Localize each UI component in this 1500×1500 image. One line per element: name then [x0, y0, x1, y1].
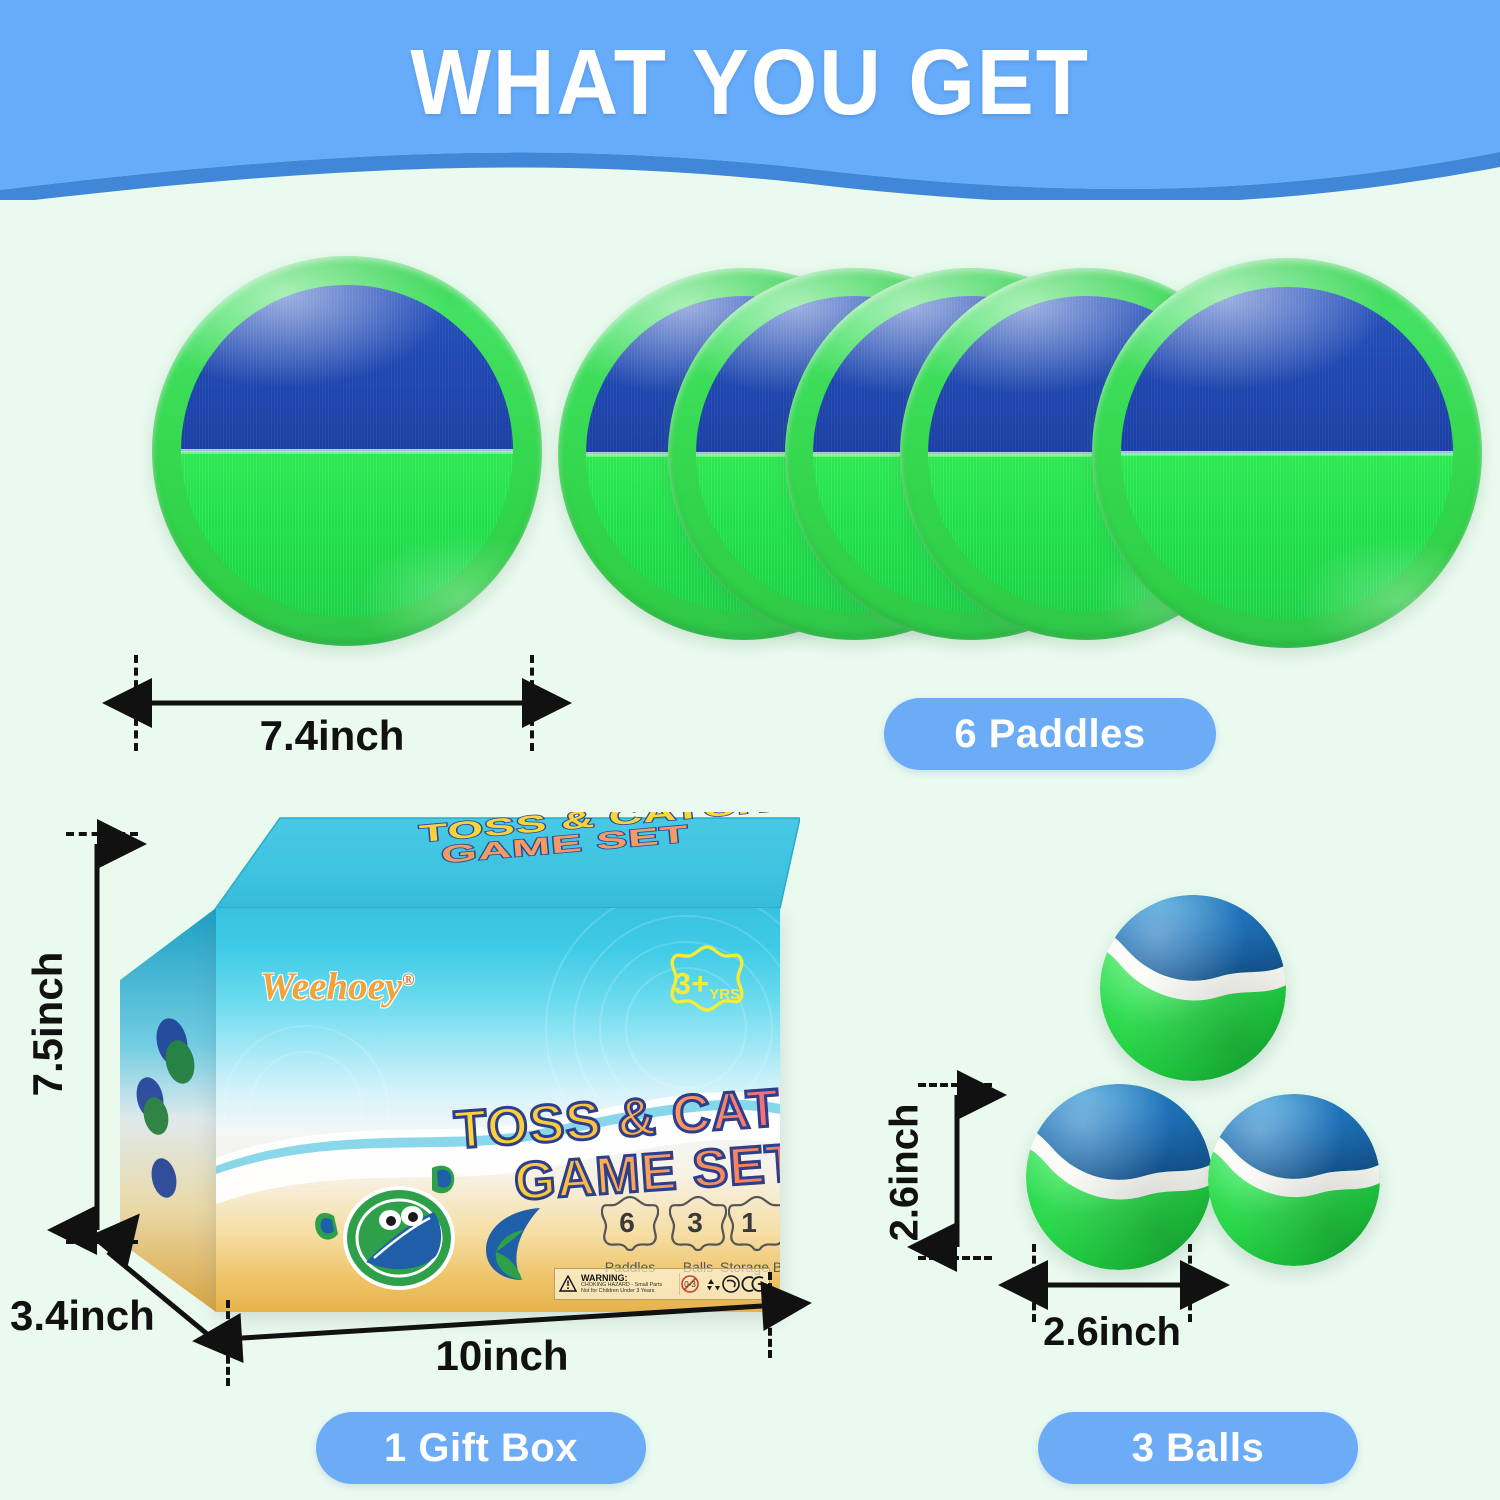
paddles-group [0, 200, 1500, 670]
feature-item: 6 Paddles [598, 1194, 662, 1275]
recycle-icon [707, 1279, 720, 1291]
age-badge-text: 3+YRS [668, 944, 746, 1022]
age-badge-unit: YRS [709, 987, 740, 1002]
ce-mark-icon [742, 1277, 763, 1291]
gift-box-illustration: TOSS & CATCH GAME SET [120, 812, 800, 1312]
box-width-label: 10inch [228, 1332, 776, 1380]
paddle-blue-half [1121, 287, 1453, 453]
paddle-seam [1121, 451, 1453, 456]
feature-count: 6 [598, 1194, 656, 1252]
paddle-face [181, 285, 513, 617]
ball-width-label: 2.6inch [1012, 1310, 1212, 1355]
ball-item [1208, 1094, 1380, 1266]
feature-count: 3 [666, 1194, 724, 1252]
box-front-face: Weehoey® 3+YRS TOSS & CATCH GAME SET [216, 908, 780, 1312]
feature-item: 1 Storage Bag [720, 1194, 780, 1275]
feature-count: 1 [720, 1194, 778, 1252]
box-brand: Weehoey® [260, 964, 414, 1009]
ball-item [1100, 895, 1286, 1081]
green-dot-icon [723, 1276, 739, 1292]
box-depth-label: 3.4inch [10, 1292, 155, 1340]
box-mascot-paddle-icon [304, 1158, 484, 1298]
header-banner: WHAT YOU GET [0, 0, 1500, 200]
svg-text:0-3: 0-3 [684, 1280, 696, 1289]
paddle-dimension-label: 7.4inch [0, 712, 664, 760]
no-under-three-icon: 0-3 [682, 1276, 698, 1292]
badge-1-gift-box: 1 Gift Box [316, 1412, 646, 1484]
ball-item [1026, 1084, 1212, 1270]
paddle-item-measured [152, 256, 542, 646]
infographic-root: WHAT YOU GET [0, 0, 1500, 1500]
box-droplet-icon [478, 1204, 548, 1284]
box-height-label: 7.5inch [24, 874, 72, 1174]
badge-6-paddles: 6 Paddles [884, 698, 1216, 770]
ball-width-arrow [1036, 1272, 1192, 1298]
box-brand-name: Weehoey [260, 965, 402, 1008]
ball-blue-cap [1026, 1084, 1212, 1270]
box-height-arrow [84, 832, 110, 1242]
ball-height-arrow [944, 1083, 970, 1259]
paddle-green-half [1121, 453, 1453, 619]
badge-3-balls: 3 Balls [1038, 1412, 1358, 1484]
paddle-blue-half [181, 285, 513, 451]
ball-blue-cap [1100, 895, 1286, 1081]
page-title: WHAT YOU GET [60, 36, 1440, 129]
paddle-seam [181, 449, 513, 454]
paddle-face [1121, 287, 1453, 619]
age-badge-number: 3+ [674, 968, 709, 999]
warning-triangle-icon [559, 1275, 577, 1293]
paddle-green-half [181, 451, 513, 617]
paddle-item [1092, 258, 1482, 648]
ball-blue-cap [1208, 1094, 1380, 1266]
ball-height-label: 2.6inch [883, 1088, 928, 1258]
registered-mark-icon: ® [402, 970, 414, 989]
